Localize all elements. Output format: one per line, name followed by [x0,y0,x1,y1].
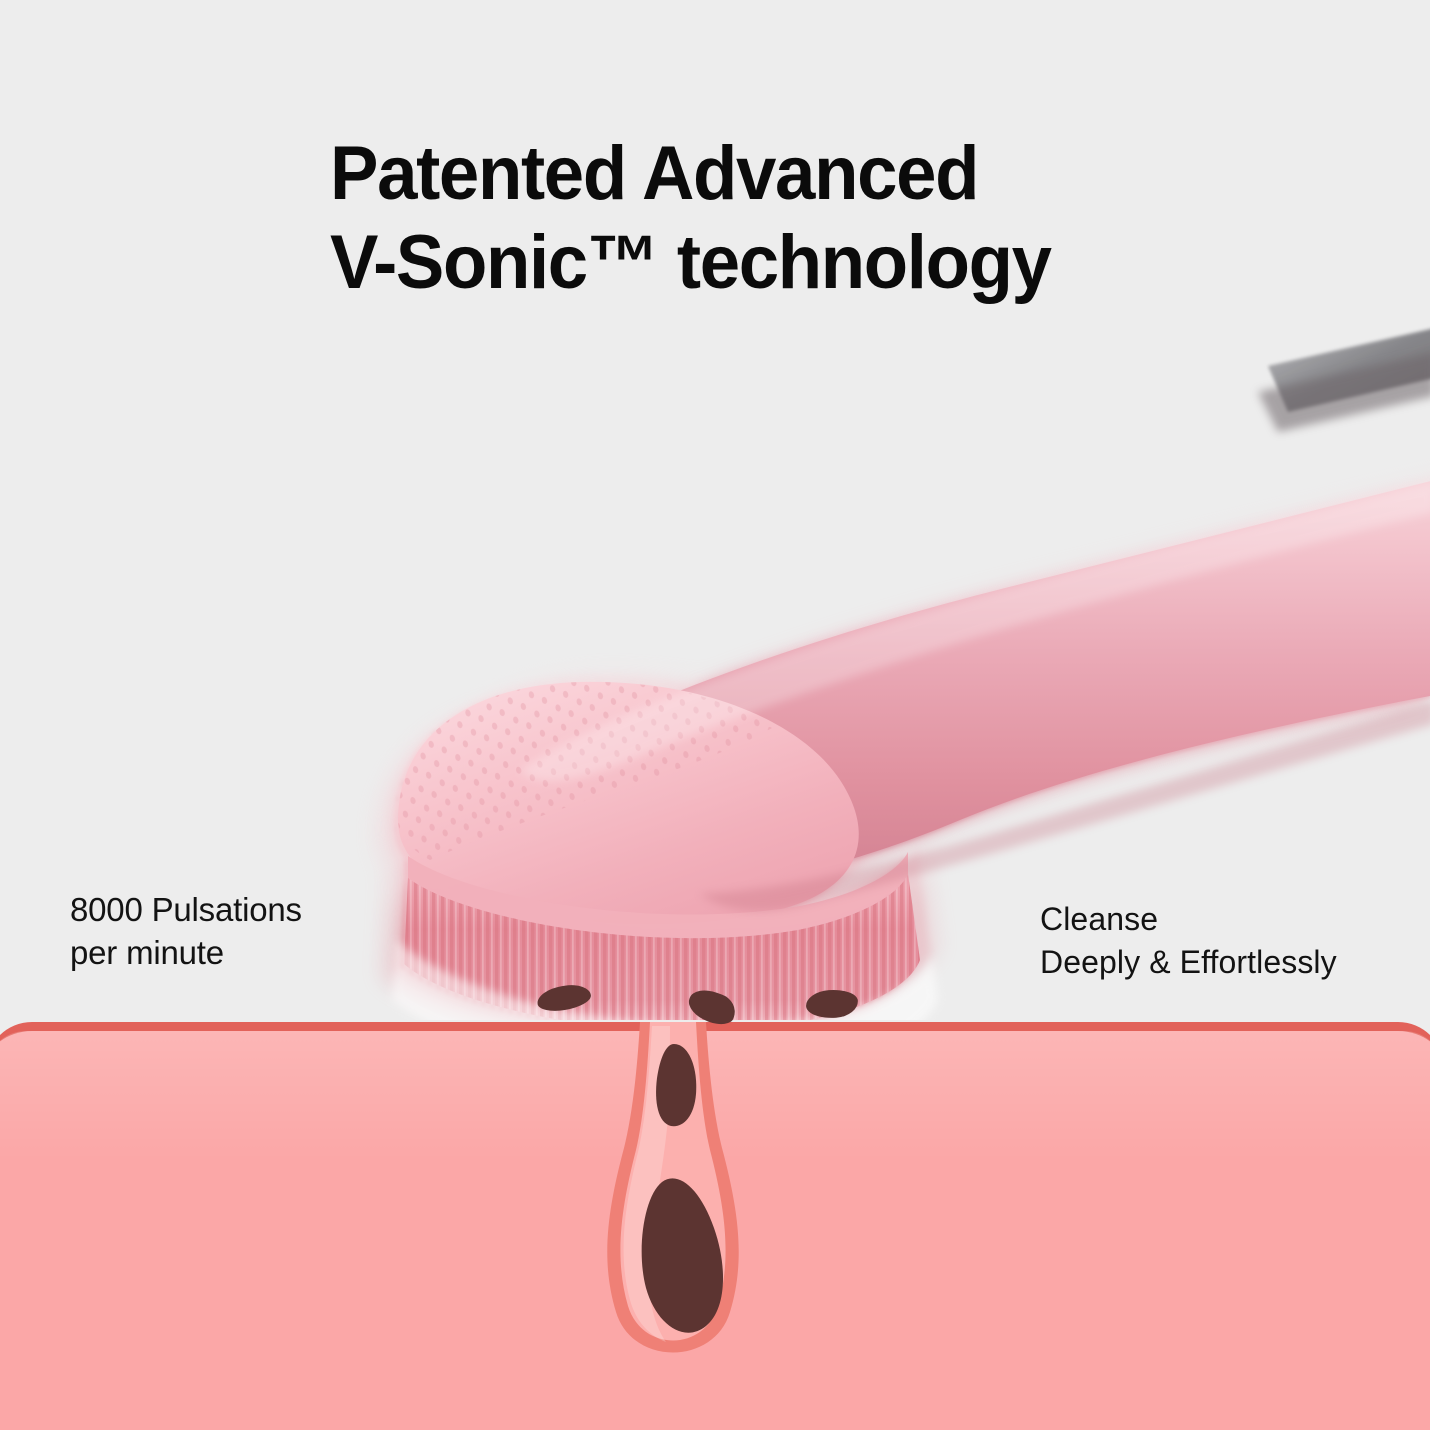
body-highlight [520,482,1430,781]
brush-blur-fade [392,940,938,1020]
annotation-pulsations: 8000 Pulsations per minute [70,889,302,975]
pore-svg [578,1022,768,1430]
body-shadow [700,700,1430,911]
pore-illustration [578,1022,768,1430]
metal-accent-icon [1258,328,1430,432]
extracted-speck [535,982,592,1014]
page-title: Patented Advanced V-Sonic™ technology [330,130,1190,308]
annotation-cleanse: Cleanse Deeply & Effortlessly [1040,898,1337,983]
extracted-speck [805,988,859,1020]
product-feature-graphic: Patented Advanced V-Sonic™ technology [0,0,1430,1430]
